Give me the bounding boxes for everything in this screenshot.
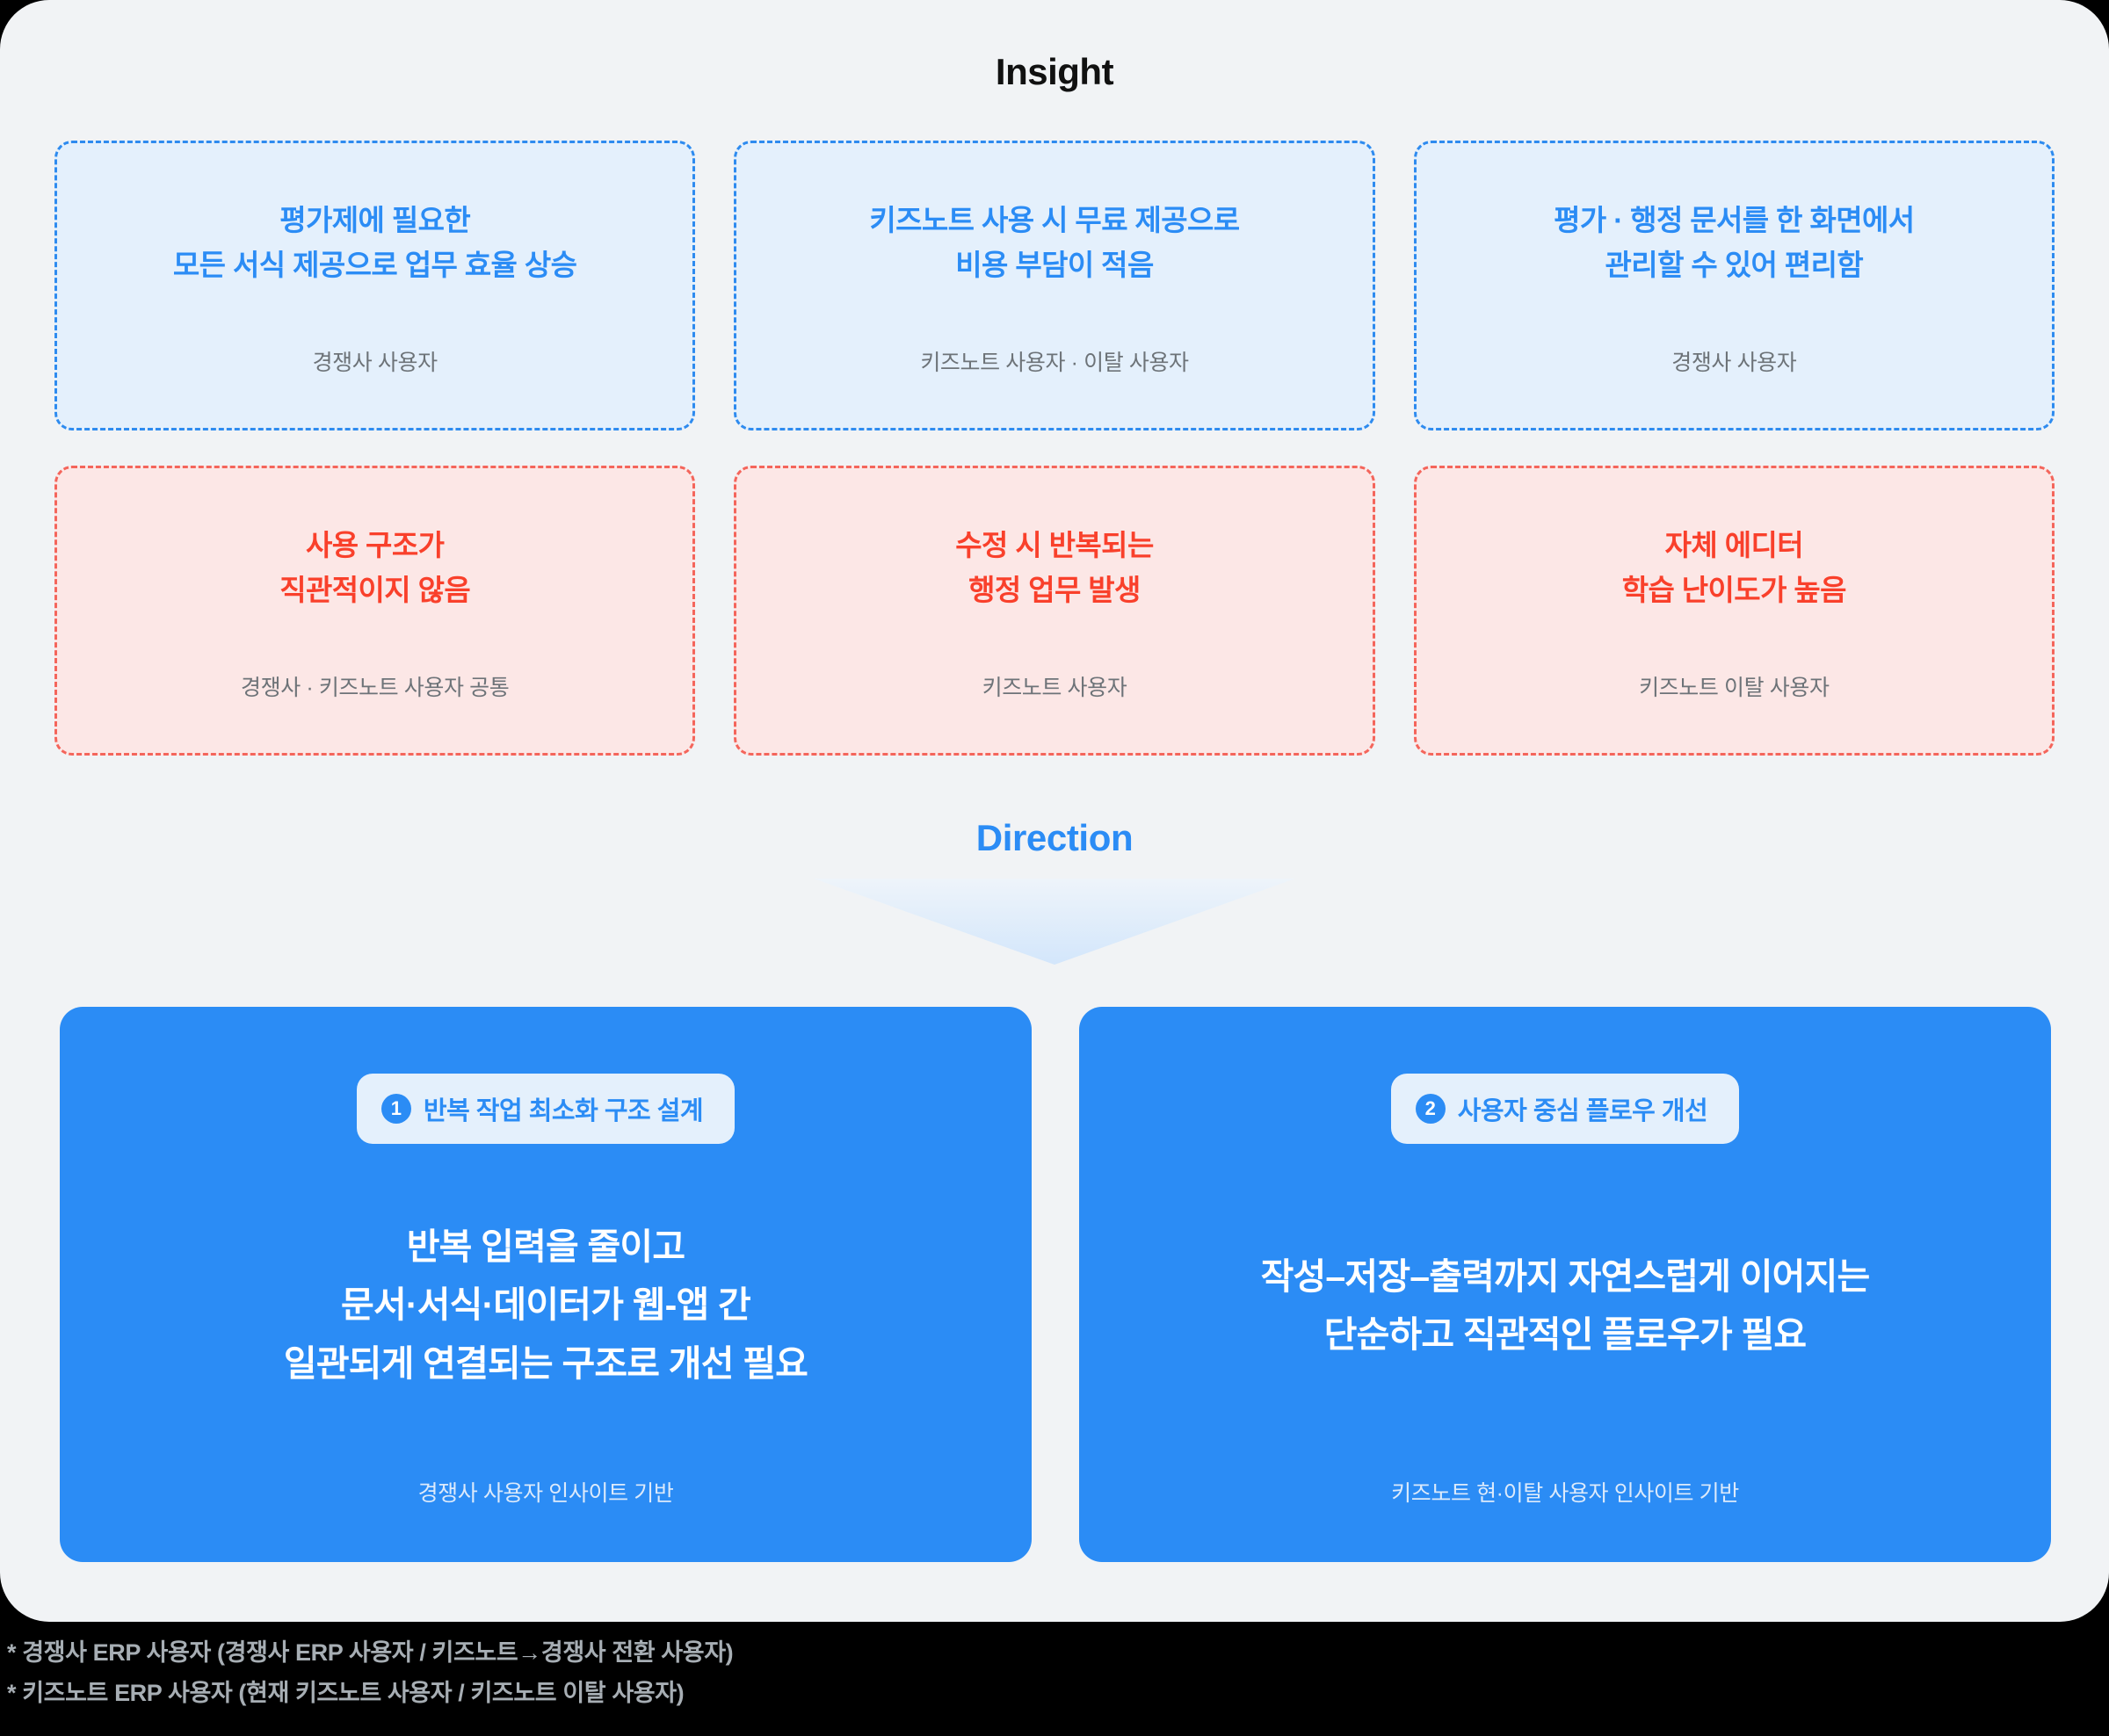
- direction-card-1-headline-line1: 반복 입력을 줄이고: [284, 1218, 808, 1276]
- direction-card-2-badge-label: 사용자 중심 플로우 개선: [1458, 1090, 1707, 1127]
- insight-card-6-headline-line2: 학습 난이도가 높음: [1622, 568, 1846, 612]
- direction-card-1-source: 경쟁사 사용자 인사이트 기반: [60, 1476, 1032, 1508]
- insight-card-6-headline: 자체 에디터 학습 난이도가 높음: [1622, 523, 1846, 613]
- direction-section-title: Direction: [0, 817, 2109, 859]
- insight-card-3-headline-line2: 관리할 수 있어 편리함: [1554, 242, 1914, 287]
- direction-card-1-headline: 반복 입력을 줄이고 문서·서식·데이터가 웹-앱 간 일관되게 연결되는 구조…: [249, 1218, 843, 1392]
- insight-card-2-headline-line1: 키즈노트 사용 시 무료 제공으로: [869, 198, 1239, 242]
- insight-card-3: 평가 · 행정 문서를 한 화면에서 관리할 수 있어 편리함 경쟁사 사용자: [1414, 141, 2055, 430]
- insight-card-4-source: 경쟁사 · 키즈노트 사용자 공통: [57, 670, 692, 702]
- insight-card-3-headline-line1: 평가 · 행정 문서를 한 화면에서: [1554, 198, 1914, 242]
- insight-card-2: 키즈노트 사용 시 무료 제공으로 비용 부담이 적음 키즈노트 사용자 · 이…: [734, 141, 1374, 430]
- insight-card-5-source: 키즈노트 사용자: [736, 670, 1372, 702]
- insight-card-3-source: 경쟁사 사용자: [1417, 345, 2052, 377]
- direction-card-2-source: 키즈노트 현·이탈 사용자 인사이트 기반: [1079, 1476, 2051, 1508]
- insight-card-1-headline-line1: 평가제에 필요한: [173, 198, 576, 242]
- direction-card-1-badge-label: 반복 작업 최소화 구조 설계: [424, 1090, 703, 1127]
- direction-card-2: 2 사용자 중심 플로우 개선 작성–저장–출력까지 자연스럽게 이어지는 단순…: [1079, 1007, 2051, 1562]
- direction-card-2-badge-number: 2: [1416, 1094, 1446, 1124]
- direction-card-grid: 1 반복 작업 최소화 구조 설계 반복 입력을 줄이고 문서·서식·데이터가 …: [60, 1007, 2051, 1562]
- direction-card-2-headline-line1: 작성–저장–출력까지 자연스럽게 이어지는: [1261, 1248, 1870, 1306]
- direction-card-2-headline-line2: 단순하고 직관적인 플로우가 필요: [1261, 1306, 1870, 1363]
- insight-card-2-headline: 키즈노트 사용 시 무료 제공으로 비용 부담이 적음: [869, 198, 1239, 288]
- insight-card-1: 평가제에 필요한 모든 서식 제공으로 업무 효율 상승 경쟁사 사용자: [54, 141, 695, 430]
- down-arrow-icon: [814, 879, 1295, 965]
- insight-card-6: 자체 에디터 학습 난이도가 높음 키즈노트 이탈 사용자: [1414, 466, 2055, 756]
- insight-card-6-source: 키즈노트 이탈 사용자: [1417, 670, 2052, 702]
- footnote-line-2: * 키즈노트 ERP 사용자 (현재 키즈노트 사용자 / 키즈노트 이탈 사용…: [7, 1673, 2109, 1713]
- insight-card-1-headline: 평가제에 필요한 모든 서식 제공으로 업무 효율 상승: [173, 198, 576, 288]
- direction-card-1-headline-line3: 일관되게 연결되는 구조로 개선 필요: [284, 1335, 808, 1392]
- direction-card-1-badge-number: 1: [381, 1094, 411, 1124]
- insight-card-4-headline-line1: 사용 구조가: [279, 523, 470, 568]
- insight-card-2-source: 키즈노트 사용자 · 이탈 사용자: [736, 345, 1372, 377]
- insight-card-6-headline-line1: 자체 에디터: [1622, 523, 1846, 568]
- insight-card-5-headline: 수정 시 반복되는 행정 업무 발생: [955, 523, 1153, 613]
- insight-card-4-headline-line2: 직관적이지 않음: [279, 568, 470, 612]
- footnotes: * 경쟁사 ERP 사용자 (경쟁사 ERP 사용자 / 키즈노트→경쟁사 전환…: [0, 1622, 2109, 1736]
- insight-card-1-headline-line2: 모든 서식 제공으로 업무 효율 상승: [173, 242, 576, 287]
- insight-card-2-headline-line2: 비용 부담이 적음: [869, 242, 1239, 287]
- footnote-line-1: * 경쟁사 ERP 사용자 (경쟁사 ERP 사용자 / 키즈노트→경쟁사 전환…: [7, 1632, 2109, 1673]
- insight-card-5: 수정 시 반복되는 행정 업무 발생 키즈노트 사용자: [734, 466, 1374, 756]
- insight-card-1-source: 경쟁사 사용자: [57, 345, 692, 377]
- main-panel: Insight 평가제에 필요한 모든 서식 제공으로 업무 효율 상승 경쟁사…: [0, 0, 2109, 1622]
- direction-card-2-headline: 작성–저장–출력까지 자연스럽게 이어지는 단순하고 직관적인 플로우가 필요: [1226, 1248, 1905, 1364]
- direction-card-1-headline-line2: 문서·서식·데이터가 웹-앱 간: [284, 1276, 808, 1334]
- insight-card-5-headline-line2: 행정 업무 발생: [955, 568, 1153, 612]
- insight-card-3-headline: 평가 · 행정 문서를 한 화면에서 관리할 수 있어 편리함: [1554, 198, 1914, 288]
- insight-section-title: Insight: [0, 51, 2109, 93]
- insight-card-grid: 평가제에 필요한 모든 서식 제공으로 업무 효율 상승 경쟁사 사용자 키즈노…: [54, 141, 2055, 756]
- direction-card-1-badge: 1 반복 작업 최소화 구조 설계: [357, 1074, 735, 1144]
- direction-card-2-badge: 2 사용자 중심 플로우 개선: [1391, 1074, 1739, 1144]
- insight-card-4-headline: 사용 구조가 직관적이지 않음: [279, 523, 470, 613]
- direction-card-1: 1 반복 작업 최소화 구조 설계 반복 입력을 줄이고 문서·서식·데이터가 …: [60, 1007, 1032, 1562]
- insight-card-4: 사용 구조가 직관적이지 않음 경쟁사 · 키즈노트 사용자 공통: [54, 466, 695, 756]
- insight-card-5-headline-line1: 수정 시 반복되는: [955, 523, 1153, 568]
